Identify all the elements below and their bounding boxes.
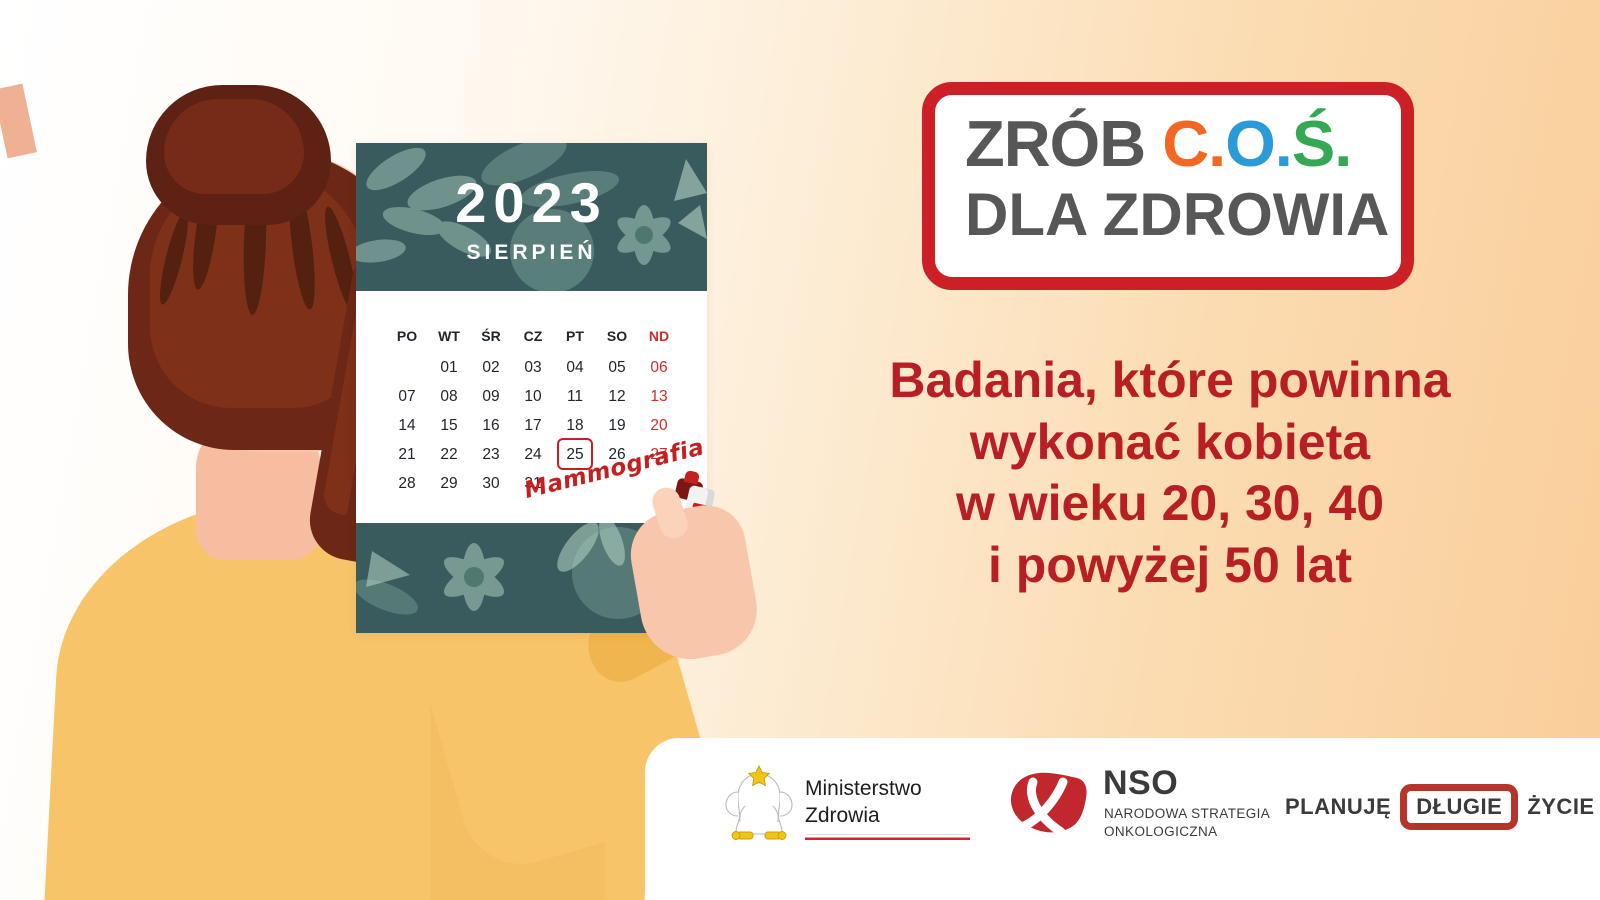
planuje-dlugie-zycie-logo: PLANUJĘ DŁUGIE ŻYCIE: [1285, 776, 1595, 838]
ministry-line2: Zdrowia: [805, 803, 922, 830]
woman-hair-bun: [146, 85, 331, 225]
weekday-wt: WT: [428, 319, 470, 353]
ministry-line1: Ministerstwo: [805, 776, 922, 803]
day-cell: [386, 353, 428, 382]
headline-line-3: w wieku 20, 30, 40: [790, 473, 1550, 535]
day-cell: 24: [512, 440, 554, 469]
day-cell: 21: [386, 440, 428, 469]
day-cell: 16: [470, 411, 512, 440]
day-cell: 17: [512, 411, 554, 440]
calendar-weekday-row: PO WT ŚR CZ PT SO ND: [386, 319, 680, 353]
day-cell: 07: [386, 382, 428, 411]
poland-map-ribbon-icon: [1003, 760, 1093, 844]
day-cell: 30: [470, 469, 512, 498]
day-cell: 23: [470, 440, 512, 469]
ministry-flag-rule: [805, 834, 970, 840]
day-cell: 19: [596, 411, 638, 440]
day-cell: 20: [638, 411, 680, 440]
day-cell: 06: [638, 353, 680, 382]
campaign-logo-line2: DLA ZDROWIA: [965, 185, 1389, 245]
calendar-week-row: 07 08 09 10 11 12 13: [386, 382, 680, 411]
calendar-week-row: 14 15 16 17 18 19 20: [386, 411, 680, 440]
day-cell: 03: [512, 353, 554, 382]
day-cell: 15: [428, 411, 470, 440]
poster-canvas: 2023 SIERPIEŃ PO WT ŚR CZ PT SO ND 01 02…: [0, 0, 1600, 900]
day-cell: 28: [386, 469, 428, 498]
nso-fullname: NARODOWA STRATEGIA ONKOLOGICZNA: [1104, 805, 1270, 841]
weekday-so: SO: [596, 319, 638, 353]
day-cell: 22: [428, 440, 470, 469]
day-cell: 05: [596, 353, 638, 382]
headline-block: Badania, które powinna wykonać kobieta w…: [790, 350, 1550, 596]
logo-letter-o: O.: [1225, 107, 1292, 180]
day-cell: 08: [428, 382, 470, 411]
logo-zrob-text: ZRÓB: [965, 107, 1162, 180]
day-cell: 18: [554, 411, 596, 440]
nso-logo: NSO NARODOWA STRATEGIA ONKOLOGICZNA: [1003, 760, 1273, 865]
pdz-boxed-word: DŁUGIE: [1400, 784, 1518, 830]
day-cell: 12: [596, 382, 638, 411]
headline-line-4: i powyżej 50 lat: [790, 535, 1550, 597]
day-cell: 04: [554, 353, 596, 382]
day-cell: 14: [386, 411, 428, 440]
footer-panel: Ministerstwo Zdrowia NSO NARODOWA STRATE…: [645, 738, 1600, 900]
ministry-name: Ministerstwo Zdrowia: [805, 776, 922, 830]
headline-line-2: wykonać kobieta: [790, 412, 1550, 474]
nso-line1: NARODOWA STRATEGIA: [1104, 805, 1270, 823]
pdz-word-dlugie: DŁUGIE: [1416, 794, 1502, 819]
calendar-week-row: 01 02 03 04 05 06: [386, 353, 680, 382]
calendar-year: 2023: [356, 175, 707, 231]
calendar-month: SIERPIEŃ: [356, 241, 707, 265]
weekday-nd: ND: [638, 319, 680, 353]
weekday-cz: CZ: [512, 319, 554, 353]
logo-letter-s: Ś.: [1292, 107, 1351, 180]
pdz-word-zycie: ŻYCIE: [1527, 794, 1594, 820]
ministry-of-health-logo: Ministerstwo Zdrowia: [723, 762, 973, 862]
day-cell: 11: [554, 382, 596, 411]
day-cell: 29: [428, 469, 470, 498]
weekday-po: PO: [386, 319, 428, 353]
logo-letter-c: C.: [1162, 107, 1225, 180]
nso-abbr: NSO: [1103, 766, 1178, 800]
day-cell: 01: [428, 353, 470, 382]
polish-eagle-icon: [723, 762, 795, 848]
day-cell: 13: [638, 382, 680, 411]
day-cell: 10: [512, 382, 554, 411]
day-cell: 02: [470, 353, 512, 382]
weekday-pt: PT: [554, 319, 596, 353]
pdz-word-planuje: PLANUJĘ: [1285, 794, 1391, 820]
weekday-sr: ŚR: [470, 319, 512, 353]
nso-line2: ONKOLOGICZNA: [1104, 823, 1270, 841]
calendar-header: 2023 SIERPIEŃ: [356, 143, 707, 291]
campaign-logo-box: ZRÓB C.O.Ś. DLA ZDROWIA: [922, 82, 1414, 290]
campaign-logo-line1: ZRÓB C.O.Ś.: [965, 111, 1351, 176]
headline-line-1: Badania, które powinna: [790, 350, 1550, 412]
day-cell: 09: [470, 382, 512, 411]
